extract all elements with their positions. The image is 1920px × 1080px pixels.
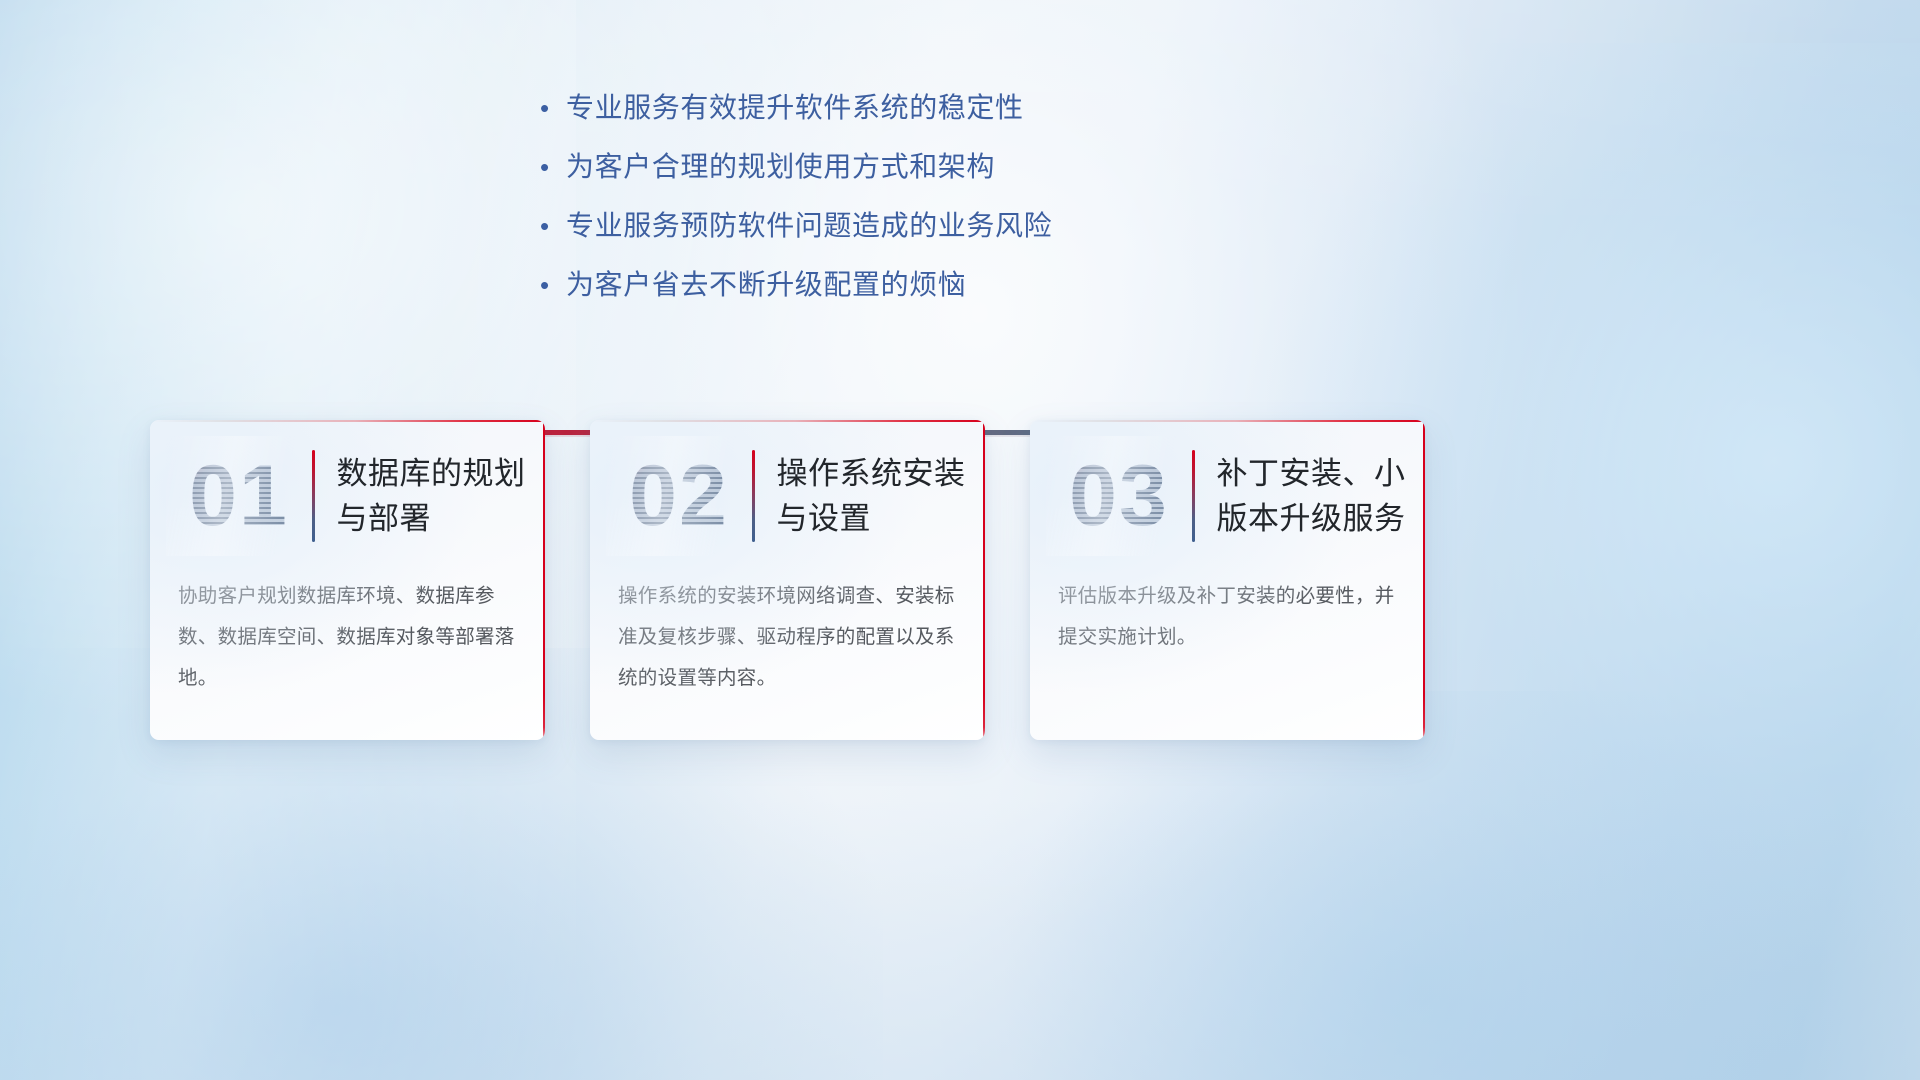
bullet-dot-icon: • [540, 267, 566, 303]
card-title-line-2: 与部署 [337, 496, 546, 541]
list-item: • 为客户省去不断升级配置的烦恼 [540, 267, 1160, 303]
card-divider-bar [752, 450, 755, 542]
card-divider-bar [312, 450, 315, 542]
bullet-text: 为客户合理的规划使用方式和架构 [566, 149, 995, 185]
bullet-dot-icon: • [540, 208, 566, 244]
card-header: 02 操作系统安装 与设置 [590, 420, 985, 572]
bullet-dot-icon: • [540, 149, 566, 185]
service-card[interactable]: 03 补丁安装、小 版本升级服务 评估版本升级及补丁安装的必要性，并提交实施计划… [1030, 420, 1425, 740]
bullet-text: 专业服务有效提升软件系统的稳定性 [566, 90, 1024, 126]
card-title-line-1: 补丁安装、小 [1217, 451, 1426, 496]
bullet-text: 专业服务预防软件问题造成的业务风险 [566, 208, 1052, 244]
bullet-text: 为客户省去不断升级配置的烦恼 [566, 267, 966, 303]
card-title: 补丁安装、小 版本升级服务 [1217, 451, 1426, 541]
card-description: 操作系统的安装环境网络调查、安装标准及复核步骤、驱动程序的配置以及系统的设置等内… [590, 572, 985, 699]
service-card[interactable]: 01 数据库的规划 与部署 协助客户规划数据库环境、数据库参数、数据库空间、数据… [150, 420, 545, 740]
card-header: 03 补丁安装、小 版本升级服务 [1030, 420, 1425, 572]
service-card-group: 01 数据库的规划 与部署 协助客户规划数据库环境、数据库参数、数据库空间、数据… [150, 420, 1425, 740]
card-title: 数据库的规划 与部署 [337, 451, 546, 541]
card-description: 协助客户规划数据库环境、数据库参数、数据库空间、数据库对象等部署落地。 [150, 572, 545, 699]
card-number: 01 [172, 442, 306, 550]
list-item: • 为客户合理的规划使用方式和架构 [540, 149, 1160, 185]
list-item: • 专业服务有效提升软件系统的稳定性 [540, 90, 1160, 126]
card-title: 操作系统安装 与设置 [777, 451, 986, 541]
card-divider-bar [1192, 450, 1195, 542]
card-title-line-1: 操作系统安装 [777, 451, 986, 496]
bullet-dot-icon: • [540, 90, 566, 126]
card-title-line-2: 版本升级服务 [1217, 496, 1426, 541]
service-card[interactable]: 02 操作系统安装 与设置 操作系统的安装环境网络调查、安装标准及复核步骤、驱动… [590, 420, 985, 740]
card-title-line-2: 与设置 [777, 496, 986, 541]
card-number: 03 [1052, 442, 1186, 550]
benefits-bullet-list: • 专业服务有效提升软件系统的稳定性 • 为客户合理的规划使用方式和架构 • 专… [540, 90, 1160, 326]
card-title-line-1: 数据库的规划 [337, 451, 546, 496]
card-description: 评估版本升级及补丁安装的必要性，并提交实施计划。 [1030, 572, 1425, 658]
list-item: • 专业服务预防软件问题造成的业务风险 [540, 208, 1160, 244]
card-header: 01 数据库的规划 与部署 [150, 420, 545, 572]
card-number: 02 [612, 442, 746, 550]
